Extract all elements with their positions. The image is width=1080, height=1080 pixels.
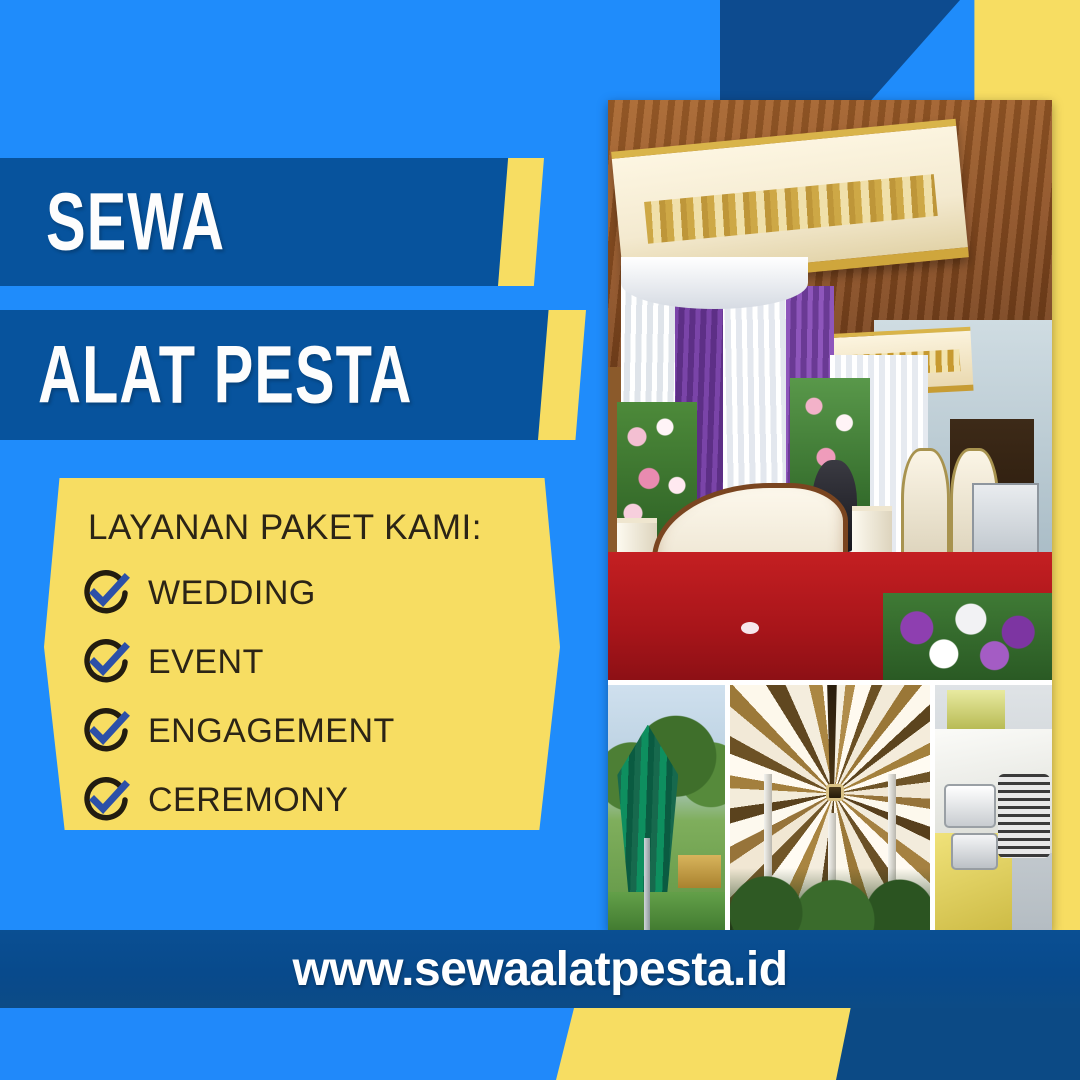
services-heading: LAYANAN PAKET KAMI: [88,508,560,548]
check-circle-icon [80,774,132,826]
check-circle-icon [80,636,132,688]
service-label: WEDDING [148,574,316,613]
catering-backdrop-decor [947,690,1006,730]
service-list-item: WEDDING [80,562,560,624]
photo-collage [608,100,1052,932]
bench-decor [678,855,720,887]
flower-arrangement-decor [883,593,1052,680]
grass-decor [608,892,725,932]
drapery-swag-decor [621,257,807,309]
sub-photo-strip [608,680,1052,932]
footer-bar: www.sewaalatpesta.id [0,930,1080,1008]
service-list-item: CEREMONY [80,769,560,831]
sub-photo-catering [935,685,1052,932]
headline-banner-primary: SEWA [0,158,512,286]
website-url[interactable]: www.sewaalatpesta.id [292,942,787,997]
tent-hub-decor [826,784,844,801]
sub-photo-green-tent [608,685,725,932]
check-circle-icon [80,705,132,757]
main-photo-wedding-stage [608,100,1052,680]
serving-tray-decor [951,833,998,870]
check-circle-icon [80,567,132,619]
service-list-item: EVENT [80,631,560,693]
service-list-item: ENGAGEMENT [80,700,560,762]
canopy-ornament-decor [644,174,938,243]
serving-tray-decor [944,784,996,828]
service-label: EVENT [148,643,264,682]
headline-line-2: ALAT PESTA [38,328,412,422]
bottom-strip-blue [0,1008,580,1080]
sub-photo-tent-ceiling [730,685,930,932]
services-card: LAYANAN PAKET KAMI: WEDDING EVENT ENGAGE… [44,478,560,830]
bottom-strip-navy [836,1008,1080,1080]
bush-decor [730,868,930,932]
headline-banner-secondary: ALAT PESTA [0,310,552,440]
headline-line-1: SEWA [46,175,225,269]
petal-decor [741,622,759,634]
service-label: CEREMONY [148,781,348,820]
plate-stack-decor [998,774,1050,858]
bottom-strip-yellow [556,1008,856,1080]
service-label: ENGAGEMENT [148,712,395,751]
umbrella-pole-decor [644,838,650,932]
